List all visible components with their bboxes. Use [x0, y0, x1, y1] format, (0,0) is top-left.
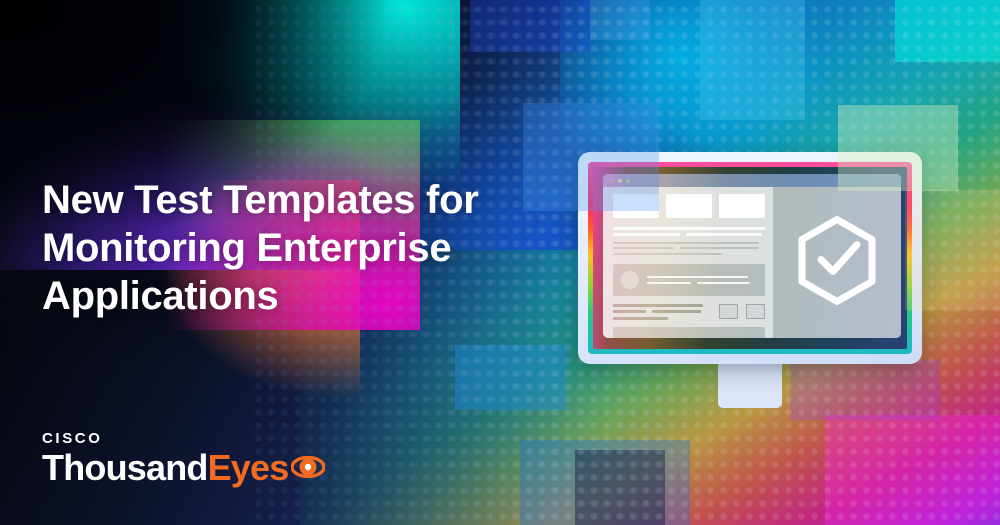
hero-card-row: [613, 194, 765, 218]
text-line: [686, 233, 762, 236]
mini-box: [719, 304, 738, 319]
headline-line-1: New Test Templates for: [42, 178, 478, 222]
text-line: [697, 282, 750, 284]
page-title: New Test Templates for Monitoring Enterp…: [42, 176, 512, 320]
browser-dot-red-icon: [610, 179, 614, 183]
eye-icon: [291, 456, 325, 483]
banner-root: New Test Templates for Monitoring Enterp…: [0, 0, 1000, 525]
bottom-content-row: [613, 304, 765, 320]
browser-content-left: [603, 187, 773, 338]
text-line-row: [613, 310, 711, 313]
text-line: [613, 253, 722, 255]
text-line: [613, 227, 765, 230]
text-line: [613, 247, 674, 249]
text-line: [613, 233, 680, 236]
hero-card: [719, 194, 765, 218]
bottom-text-lines: [613, 304, 711, 320]
text-line-row: [647, 282, 757, 284]
monitor-stand: [718, 364, 782, 408]
text-line: [647, 282, 691, 284]
hero-card: [666, 194, 712, 218]
footer-block: [613, 327, 765, 338]
avatar: [621, 271, 639, 289]
avatar-card: [613, 264, 765, 296]
hero-card: [613, 194, 659, 218]
browser-body: [603, 187, 901, 338]
text-line: [613, 317, 668, 320]
browser-content-right: [773, 187, 901, 338]
thousandeyes-logo[interactable]: CISCO ThousandEyes: [42, 430, 325, 488]
headline-line-3: Applications: [42, 274, 278, 318]
browser-titlebar: [603, 174, 901, 187]
hexagon-check-badge-icon: [794, 214, 880, 311]
browser-dot-yellow-icon: [618, 179, 622, 183]
cisco-wordmark: CISCO: [42, 430, 325, 447]
text-line-row: [613, 247, 765, 249]
text-line: [647, 276, 748, 278]
mini-box: [746, 304, 765, 319]
text-line: [652, 310, 701, 313]
headline-line-2: Monitoring Enterprise: [42, 226, 451, 270]
text-line: [613, 310, 646, 313]
text-line: [613, 242, 759, 244]
monitor-screen-border: [588, 162, 912, 354]
text-line: [680, 247, 759, 249]
thousandeyes-wordmark: ThousandEyes: [42, 448, 325, 488]
logo-word-thousand: Thousand: [42, 448, 208, 488]
text-line-row: [613, 233, 765, 236]
logo-word-eyes: Eyes: [208, 448, 289, 488]
avatar-card-lines: [647, 276, 757, 284]
monitor-screen: [593, 167, 907, 349]
browser-window-mockup: [603, 174, 901, 338]
monitor-illustration: [578, 152, 922, 364]
browser-dot-green-icon: [626, 179, 630, 183]
text-line: [613, 304, 703, 307]
